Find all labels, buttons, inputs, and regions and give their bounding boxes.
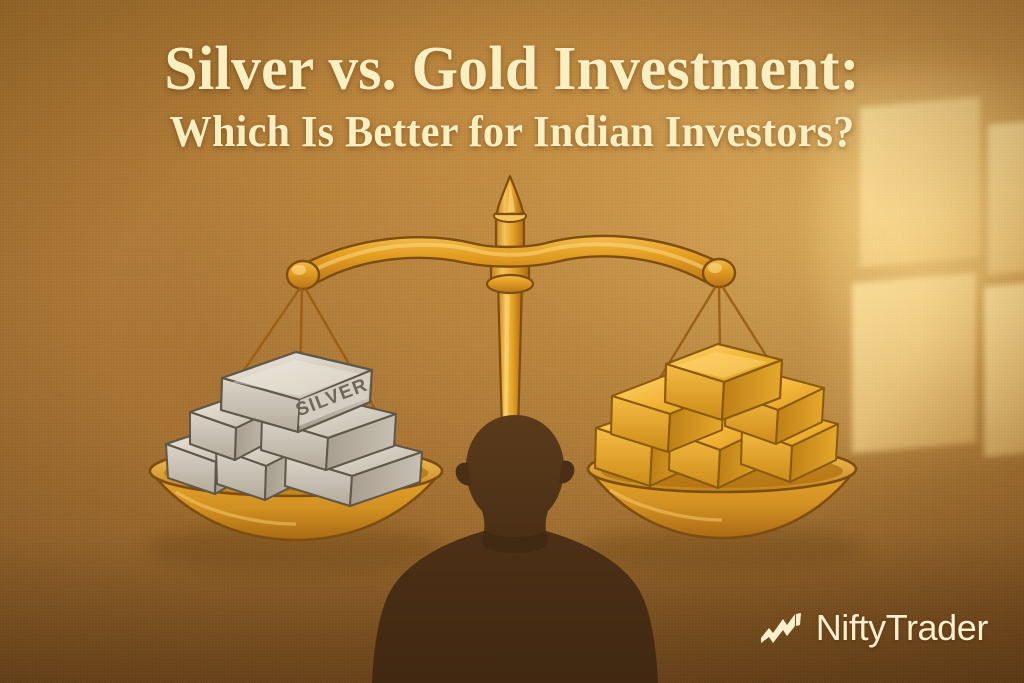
beam-end-right (703, 259, 735, 287)
scale-finial (497, 176, 523, 214)
brand-name: NiftyTrader (816, 607, 988, 649)
page-title: Silver vs. Gold Investment: (20, 38, 1003, 101)
person-silhouette (350, 405, 680, 683)
title-block: Silver vs. Gold Investment: Which Is Bet… (0, 38, 1024, 155)
zigzag-chart-arrow-icon (760, 612, 802, 644)
page-subtitle: Which Is Better for Indian Investors? (20, 109, 1003, 155)
banner-canvas: SILVER (0, 0, 1024, 683)
brand-logo[interactable]: NiftyTrader (760, 607, 988, 649)
beam-end-left (287, 261, 319, 289)
